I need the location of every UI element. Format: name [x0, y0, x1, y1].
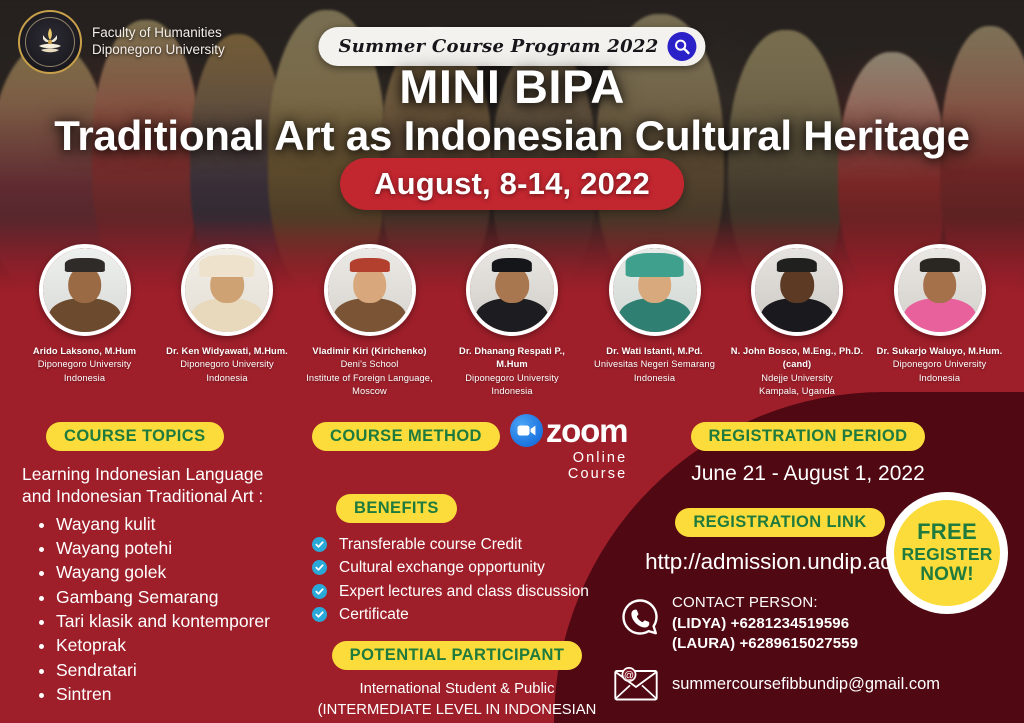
list-item: Ketoprak [22, 633, 312, 657]
video-camera-icon [510, 414, 543, 447]
free-badge-line-1: FREE [917, 521, 977, 543]
speaker-info: N. John Bosco, M.Eng., Ph.D. (cand) Ndej… [731, 345, 864, 399]
list-item: Expert lectures and class discussion [312, 581, 602, 603]
list-item: Gambang Semarang [22, 585, 312, 609]
benefits-pill: BENEFITS [336, 494, 457, 523]
list-item: Cultural exchange opportunity [312, 557, 602, 579]
speakers-row: Arido Laksono, M.Hum Diponegoro Universi… [0, 244, 1024, 414]
topics-intro-line-2: and Indonesian Traditional Art : [22, 485, 312, 507]
speaker-org: Deni's School [303, 358, 436, 371]
speaker-country: Indonesia [594, 372, 715, 385]
title-line-2: Traditional Art as Indonesian Cultural H… [0, 112, 1024, 159]
benefit-label: Expert lectures and class discussion [339, 583, 589, 600]
avatar [466, 244, 558, 336]
speaker-name: Dr. Ken Widyawati, M.Hum. [166, 345, 288, 358]
speaker-country: Indonesia [166, 372, 288, 385]
speaker-country: Institute of Foreign Language, Moscow [303, 372, 436, 399]
speaker-card: Dr. Wati Istanti, M.Pd. Univesitas Neger… [588, 244, 721, 414]
search-icon[interactable] [668, 32, 697, 61]
email-block: @ summercoursefibbundip@gmail.com [608, 667, 1008, 701]
speaker-info: Dr. Dhanang Respati P., M.Hum Diponegoro… [446, 345, 579, 399]
program-badge-label: Summer Course Program 2022 [338, 36, 658, 57]
speaker-name: N. John Bosco, M.Eng., Ph.D. (cand) [731, 345, 864, 372]
contact-person-2: (LAURA) +6289615027559 [672, 634, 858, 655]
speaker-name: Arido Laksono, M.Hum [33, 345, 136, 358]
speaker-name: Dr. Sukarjo Waluyo, M.Hum. [877, 345, 1003, 358]
benefit-label: Cultural exchange opportunity [339, 559, 545, 576]
potential-participant-text: International Student & Public (INTERMED… [312, 679, 602, 723]
benefits-list: Transferable course Credit Cultural exch… [312, 534, 602, 627]
speaker-org: Diponegoro University [877, 358, 1003, 371]
faculty-line-1: Faculty of Humanities [92, 25, 225, 42]
speaker-card: Dr. Ken Widyawati, M.Hum. Diponegoro Uni… [161, 244, 294, 414]
poster-root: Faculty of Humanities Diponegoro Univers… [0, 0, 1024, 723]
list-item: Sendratari [22, 658, 312, 682]
avatar [751, 244, 843, 336]
course-topics-section: COURSE TOPICS Learning Indonesian Langua… [22, 422, 312, 706]
speaker-card: Vladimir Kiri (Kirichenko) Deni's School… [303, 244, 436, 414]
speaker-info: Arido Laksono, M.Hum Diponegoro Universi… [33, 345, 136, 385]
course-topics-intro: Learning Indonesian Language and Indones… [22, 463, 312, 508]
speaker-country: Indonesia [877, 372, 1003, 385]
speaker-card: N. John Bosco, M.Eng., Ph.D. (cand) Ndej… [731, 244, 864, 414]
email-address[interactable]: summercoursefibbundip@gmail.com [672, 675, 940, 694]
speaker-name: Vladimir Kiri (Kirichenko) [303, 345, 436, 358]
list-item: Certificate [312, 604, 602, 626]
potential-participant-section: POTENTIAL PARTICIPANT International Stud… [312, 641, 602, 723]
speaker-name: Dr. Wati Istanti, M.Pd. [594, 345, 715, 358]
speaker-info: Dr. Ken Widyawati, M.Hum. Diponegoro Uni… [166, 345, 288, 385]
speaker-org: Diponegoro University [446, 372, 579, 385]
list-item: Wayang kulit [22, 512, 312, 536]
benefit-label: Certificate [339, 606, 409, 623]
course-method-section: COURSE METHOD zoom Online Course [312, 422, 602, 723]
contact-heading: CONTACT PERSON: [672, 593, 858, 614]
list-item: Sintren [22, 682, 312, 706]
speaker-country: Indonesia [446, 385, 579, 398]
avatar [894, 244, 986, 336]
event-date-pill: August, 8-14, 2022 [340, 158, 684, 210]
potential-participant-pill: POTENTIAL PARTICIPANT [332, 641, 583, 670]
benefits-section: BENEFITS [312, 494, 602, 523]
check-icon [312, 607, 327, 622]
check-icon [312, 560, 327, 575]
course-method-pill: COURSE METHOD [312, 422, 500, 451]
free-badge-line-3: NOW! [920, 565, 974, 584]
speaker-name: Dr. Dhanang Respati P., M.Hum [446, 345, 579, 372]
free-register-badge[interactable]: FREE REGISTER NOW! [886, 492, 1008, 614]
speaker-info: Vladimir Kiri (Kirichenko) Deni's School… [303, 345, 436, 399]
avatar [39, 244, 131, 336]
avatar [609, 244, 701, 336]
list-item: Wayang golek [22, 560, 312, 584]
speaker-card: Dr. Sukarjo Waluyo, M.Hum. Diponegoro Un… [873, 244, 1006, 414]
speaker-info: Dr. Sukarjo Waluyo, M.Hum. Diponegoro Un… [877, 345, 1003, 385]
speaker-card: Arido Laksono, M.Hum Diponegoro Universi… [18, 244, 151, 414]
content-columns: COURSE TOPICS Learning Indonesian Langua… [0, 392, 1024, 723]
registration-period-pill: REGISTRATION PERIOD [691, 422, 926, 451]
whatsapp-icon [620, 597, 660, 637]
speaker-org: Univesitas Negeri Semarang [594, 358, 715, 371]
avatar [181, 244, 273, 336]
list-item: Wayang potehi [22, 536, 312, 560]
list-item: Transferable course Credit [312, 534, 602, 556]
free-badge-line-2: REGISTER [901, 546, 992, 564]
pp-line-2: (INTERMEDIATE LEVEL IN INDONESIAN [312, 700, 602, 721]
poster-title: MINI BIPA Traditional Art as Indonesian … [0, 62, 1024, 159]
speaker-info: Dr. Wati Istanti, M.Pd. Univesitas Neger… [594, 345, 715, 385]
registration-link-pill: REGISTRATION LINK [675, 508, 884, 537]
registration-period-value: June 21 - August 1, 2022 [608, 462, 1008, 486]
course-topics-pill: COURSE TOPICS [46, 422, 224, 451]
check-icon [312, 584, 327, 599]
speaker-org: Diponegoro University [33, 358, 136, 371]
contact-lines: CONTACT PERSON: (LIDYA) +6281234519596 (… [672, 593, 858, 655]
avatar [324, 244, 416, 336]
speaker-country: Kampala, Uganda [731, 385, 864, 398]
contact-person-1: (LIDYA) +6281234519596 [672, 614, 858, 635]
pp-line-1: International Student & Public [312, 679, 602, 700]
title-line-1: MINI BIPA [0, 62, 1024, 111]
faculty-name: Faculty of Humanities Diponegoro Univers… [92, 25, 225, 59]
check-icon [312, 537, 327, 552]
list-item: Tari klasik and kontemporer [22, 609, 312, 633]
svg-text:@: @ [624, 670, 634, 681]
email-icon: @ [614, 667, 658, 701]
course-topics-list: Wayang kulit Wayang potehi Wayang golek … [22, 512, 312, 707]
faculty-line-2: Diponegoro University [92, 42, 225, 59]
seal-emblem-icon [35, 25, 65, 59]
speaker-org: Ndejje University [731, 372, 864, 385]
topics-intro-line-1: Learning Indonesian Language [22, 463, 312, 485]
speaker-card: Dr. Dhanang Respati P., M.Hum Diponegoro… [446, 244, 579, 414]
speaker-country: Indonesia [33, 372, 136, 385]
speaker-org: Diponegoro University [166, 358, 288, 371]
benefit-label: Transferable course Credit [339, 536, 522, 553]
